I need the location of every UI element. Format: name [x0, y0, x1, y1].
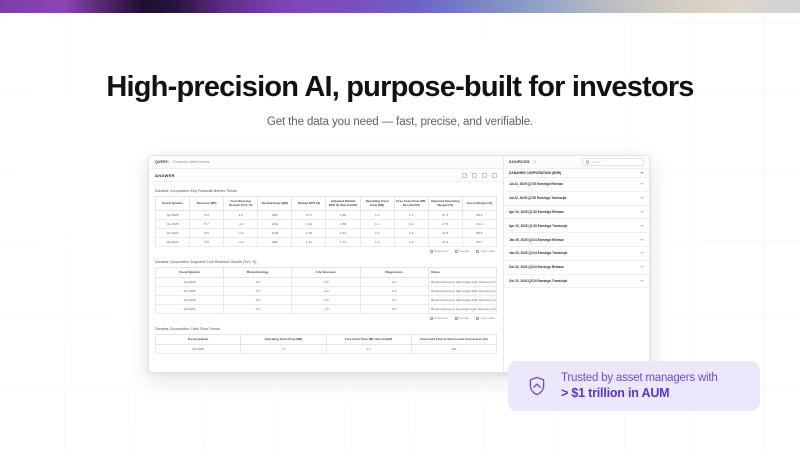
column-header: Net Earnings ($M) — [258, 197, 292, 211]
data-table: Fiscal QuarterBiotechnologyLife Sciences… — [155, 267, 497, 314]
table-cell: Q1 2025 — [156, 219, 190, 228]
table-row: Q1 20257.0-4.01.0Bioprocessing up high-s… — [156, 286, 497, 295]
section-title: Danaher Corporation: Segment Core Revenu… — [155, 260, 497, 264]
shield-chevron-up-icon — [526, 375, 548, 397]
source-item-label: Apr 22, 2025 Q1'25 Earnings Release — [509, 210, 564, 214]
query-text: Financial metric trends — [173, 160, 209, 164]
source-list-item[interactable]: Apr 22, 2025 Q1'25 Earnings Release — [504, 206, 649, 220]
table-cell: 1.49 — [292, 228, 326, 237]
column-header: Free Cash Flow ($B, Non-GAAP) — [394, 197, 428, 211]
chevron-down-icon[interactable] — [640, 239, 644, 241]
answer-panel: QUERY: Financial metric trends ANSWER Da… — [149, 156, 504, 372]
table-cell: 1.0 — [360, 286, 428, 295]
table-cell: 1.71 — [326, 237, 360, 246]
expand-icon[interactable] — [492, 173, 497, 178]
column-header: Life Sciences — [292, 268, 360, 278]
table-cell: 5.9 — [190, 210, 224, 219]
action-label: Render — [459, 316, 469, 320]
table-cell: 27.6 — [428, 219, 462, 228]
table-row: Q1 20255.7-1.011641.121.881.11.127.661.2 — [156, 219, 497, 228]
table-cell: Q1 2025 — [156, 286, 224, 295]
chevron-down-icon[interactable] — [640, 280, 644, 282]
page-subtitle: Get the data you need — fast, precise, a… — [0, 116, 800, 128]
table-cell: 1.1 — [241, 344, 326, 353]
sources-search-box[interactable]: Search — [582, 158, 644, 166]
table-cell: 1.0 — [224, 210, 258, 219]
table-cell: 2.14 — [326, 228, 360, 237]
column-header: Free Cash Flow to Net Income Conversion … — [411, 335, 496, 345]
table-cell: 1.80 — [326, 210, 360, 219]
search-icon — [586, 160, 589, 163]
table-cell: 1.1 — [360, 237, 394, 246]
table-row: Q2 20255.91.09500.771.801.11.127.159.0 — [156, 210, 497, 219]
table-cell: Q2 2025 — [156, 277, 224, 286]
column-header: Diagnostics — [360, 268, 428, 278]
table-cell: 27.1 — [428, 210, 462, 219]
column-header: Gross Margin (%) — [462, 197, 496, 211]
table-cell: 59.6 — [462, 228, 496, 237]
section-title: Danaher Corporation: Cash Flow Trends — [155, 327, 497, 331]
hero-section: High-precision AI, purpose-built for inv… — [0, 72, 800, 128]
answer-toolbar — [462, 173, 497, 178]
table-cell: 0.77 — [292, 210, 326, 219]
table-cell: -2.0 — [292, 277, 360, 286]
query-bar: QUERY: Financial metric trends — [149, 156, 503, 169]
sources-list: Jul 22, 2025 Q2'25 Earnings ReleaseJul 2… — [504, 178, 649, 372]
table-cell: 118 — [411, 344, 496, 353]
trust-badge-text: Trusted by asset managers with > $1 tril… — [561, 371, 718, 402]
page-title: High-precision AI, purpose-built for inv… — [0, 72, 800, 104]
table-cell: 27.6 — [428, 228, 462, 237]
table-cell: 1164 — [258, 219, 292, 228]
table-action-copy-table[interactable]: Copy table — [476, 249, 495, 253]
table-row: Q4 20246.0-3.02.0Bioprocessing up high-s… — [156, 295, 497, 304]
table-actions: ResponseRenderCopy table — [155, 247, 497, 258]
copy-icon[interactable] — [462, 173, 467, 178]
table-cell: 59.0 — [462, 210, 496, 219]
table-cell: 59.7 — [462, 237, 496, 246]
answer-scroll-area[interactable]: Danaher Corporation: Key Financial Metri… — [149, 182, 503, 372]
table-cell: 5.8 — [190, 237, 224, 246]
table-cell: Q4 2024 — [156, 228, 190, 237]
action-label: Copy table — [481, 249, 495, 253]
sources-title: SOURCES — [509, 160, 530, 164]
table-cell: -4.0 — [292, 286, 360, 295]
table-action-render[interactable]: Render — [455, 249, 469, 253]
table-cell: 1.1 — [360, 219, 394, 228]
table-cell: Bioprocessing up low-single digit; Disco… — [428, 304, 496, 313]
table-cell: 2.1 — [360, 228, 394, 237]
source-item-label: Jul 22, 2025 Q2'25 Earnings Release — [509, 182, 563, 186]
source-list-item[interactable]: Oct 22, 2024 Q3'24 Earnings Release — [504, 261, 649, 275]
column-header: Notes — [428, 268, 496, 278]
sources-header: SOURCES 8 Search — [504, 156, 649, 169]
table-row: Q4 20246.5-1.011001.492.142.11.527.659.6 — [156, 228, 497, 237]
action-label: Copy table — [481, 316, 495, 320]
table-row: Q2 20251.11.1118 — [156, 344, 497, 353]
sources-search-placeholder: Search — [591, 160, 601, 164]
table-cell: Bioprocessing up high-single digit; Disc… — [428, 295, 496, 304]
chevron-down-icon[interactable] — [640, 197, 644, 199]
table-cell: 2.0 — [224, 304, 292, 313]
chevron-down-icon[interactable] — [640, 211, 644, 213]
table-cell: 980 — [258, 237, 292, 246]
table-cell: 950 — [258, 210, 292, 219]
table-action-response[interactable]: Response — [430, 249, 448, 253]
table-cell: 1.1 — [394, 210, 428, 219]
table-cell: 1100 — [258, 228, 292, 237]
answer-label: ANSWER — [155, 173, 175, 178]
source-item-label: Jul 22, 2025 Q2'25 Earnings Transcript — [509, 196, 566, 200]
column-header: Adjusted Operating Margin (%) — [428, 197, 462, 211]
column-header: Fiscal Quarter — [156, 335, 241, 345]
table-row: Q3 20245.8-1.09801.121.711.11.227.659.7 — [156, 237, 497, 246]
action-label: Render — [459, 249, 469, 253]
table-cell: 1.12 — [292, 219, 326, 228]
action-label: Response — [434, 249, 448, 253]
action-icon — [430, 317, 433, 320]
trust-badge: Trusted by asset managers with > $1 tril… — [508, 361, 760, 411]
action-icon — [476, 317, 479, 320]
action-icon — [455, 250, 458, 253]
source-list-item[interactable]: Oct 22, 2024 Q3'24 Earnings Transcript — [504, 275, 649, 289]
table-cell: Bioprocessing up high-single digit; Disc… — [428, 277, 496, 286]
chevron-down-icon[interactable] — [640, 266, 644, 268]
table-action-render[interactable]: Render — [455, 316, 469, 320]
table-cell: 2.0 — [360, 295, 428, 304]
source-item-label: Apr 22, 2025 Q1'25 Earnings Transcript — [509, 224, 567, 228]
action-label: Response — [434, 316, 448, 320]
table-cell: -3.0 — [292, 295, 360, 304]
column-header: Biotechnology — [224, 268, 292, 278]
column-header: Fiscal Quarter — [156, 197, 190, 211]
table-cell: 7.0 — [224, 286, 292, 295]
section-title: Danaher Corporation: Key Financial Metri… — [155, 189, 497, 193]
table-cell: 6.5 — [190, 228, 224, 237]
chevron-down-icon[interactable] — [640, 183, 644, 185]
action-icon — [476, 250, 479, 253]
column-header: Operating Cash Flow ($B) — [360, 197, 394, 211]
action-icon — [455, 317, 458, 320]
table-cell: 6.0 — [224, 295, 292, 304]
table-action-response[interactable]: Response — [430, 316, 448, 320]
source-list-item[interactable]: Jul 22, 2025 Q2'25 Earnings Release — [504, 178, 649, 192]
source-item-label: Jan 29, 2025 Q4'24 Earnings Transcript — [509, 251, 567, 255]
table-cell: -1.0 — [224, 228, 258, 237]
table-cell: 3.0 — [360, 304, 428, 313]
action-icon — [430, 250, 433, 253]
table-header-row: Fiscal QuarterRevenue ($B)Core Revenue G… — [156, 197, 497, 211]
table-cell: -1.0 — [224, 219, 258, 228]
column-header: Fiscal Quarter — [156, 268, 224, 278]
table-cell: 1.5 — [394, 228, 428, 237]
table-cell: 5.7 — [190, 219, 224, 228]
table-row: Q2 20256.0-2.02.0Bioprocessing up high-s… — [156, 277, 497, 286]
query-label: QUERY: — [155, 160, 169, 164]
data-table: Fiscal QuarterRevenue ($B)Core Revenue G… — [155, 196, 497, 247]
top-gradient-band — [0, 0, 800, 13]
sources-company-filter[interactable]: DANAHER CORPORATION (DHR) — [504, 169, 649, 178]
answer-header: ANSWER — [149, 169, 503, 182]
sources-company-label: DANAHER CORPORATION (DHR) — [509, 171, 561, 175]
table-actions: ResponseRenderCopy table — [155, 314, 497, 325]
source-item-label: Jan 29, 2025 Q4'24 Earnings Release — [509, 238, 564, 242]
table-cell: 1.1 — [326, 344, 411, 353]
data-table: Fiscal QuarterOperating Cash Flow ($B)Fr… — [155, 334, 497, 354]
table-cell: Q2 2025 — [156, 344, 241, 353]
table-cell: Q3 2024 — [156, 304, 224, 313]
column-header: Revenue ($B) — [190, 197, 224, 211]
source-list-item[interactable]: Jan 29, 2025 Q4'24 Earnings Transcript — [504, 247, 649, 261]
table-cell: 2.0 — [360, 277, 428, 286]
app-window: QUERY: Financial metric trends ANSWER Da… — [148, 155, 650, 373]
table-header-row: Fiscal QuarterBiotechnologyLife Sciences… — [156, 268, 497, 278]
column-header: Core Revenue Growth (YoY, %) — [224, 197, 258, 211]
table-cell: 6.0 — [224, 277, 292, 286]
column-header: Operating Cash Flow ($B) — [241, 335, 326, 345]
chevron-down-icon[interactable] — [640, 225, 644, 227]
table-cell: 1.88 — [326, 219, 360, 228]
table-cell: -7.0 — [292, 304, 360, 313]
table-header-row: Fiscal QuarterOperating Cash Flow ($B)Fr… — [156, 335, 497, 345]
table-row: Q3 20242.0-7.03.0Bioprocessing up low-si… — [156, 304, 497, 313]
column-header: Free Cash Flow ($B, Non-GAAP) — [326, 335, 411, 345]
trust-badge-line2: > $1 trillion in AUM — [561, 385, 718, 401]
chevron-down-icon[interactable] — [640, 252, 644, 254]
source-list-item[interactable]: Jul 22, 2025 Q2'25 Earnings Transcript — [504, 192, 649, 206]
column-header: Adjusted Diluted EPS ($, Non-GAAP) — [326, 197, 360, 211]
source-list-item[interactable]: Jan 29, 2025 Q4'24 Earnings Release — [504, 233, 649, 247]
source-item-label: Oct 22, 2024 Q3'24 Earnings Transcript — [509, 279, 567, 283]
share-icon[interactable] — [482, 173, 487, 178]
table-cell: 1.12 — [292, 237, 326, 246]
sources-panel: SOURCES 8 Search DANAHER CORPORATION (DH… — [504, 156, 649, 372]
column-header: Diluted EPS ($) — [292, 197, 326, 211]
table-cell: 61.2 — [462, 219, 496, 228]
table-cell: Q3 2024 — [156, 237, 190, 246]
table-cell: -1.0 — [224, 237, 258, 246]
table-cell: Bioprocessing up high-single digit; Disc… — [428, 286, 496, 295]
table-cell: Q2 2025 — [156, 210, 190, 219]
table-cell: 1.1 — [360, 210, 394, 219]
table-cell: 27.6 — [428, 237, 462, 246]
source-item-label: Oct 22, 2024 Q3'24 Earnings Release — [509, 265, 564, 269]
trust-badge-line1: Trusted by asset managers with — [561, 371, 718, 386]
table-action-copy-table[interactable]: Copy table — [476, 316, 495, 320]
chevron-down-icon — [640, 172, 644, 174]
sources-count: 8 — [534, 160, 536, 164]
download-icon[interactable] — [472, 173, 477, 178]
table-cell: 1.1 — [394, 219, 428, 228]
source-list-item[interactable]: Apr 22, 2025 Q1'25 Earnings Transcript — [504, 219, 649, 233]
table-cell: Q4 2024 — [156, 295, 224, 304]
table-cell: 1.2 — [394, 237, 428, 246]
